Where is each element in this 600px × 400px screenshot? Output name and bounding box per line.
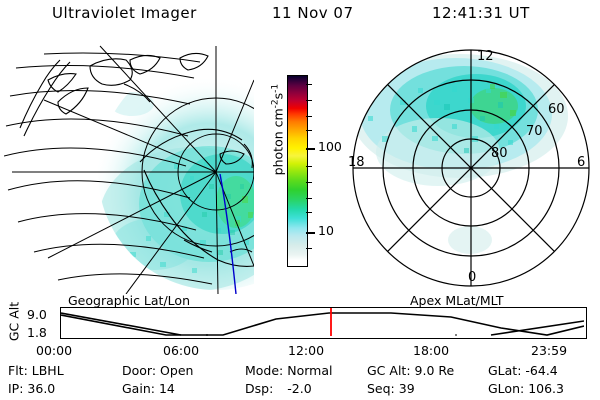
colorbar-tick (306, 100, 312, 101)
colorbar-tick (306, 84, 312, 85)
gc-alt-tick-high: 9.0 (27, 307, 47, 322)
status-gain: Gain: 14 (122, 381, 175, 396)
status-gcalt-label: GC Alt: (367, 363, 411, 378)
mlt-dial-grid (353, 50, 589, 286)
geographic-map-svg (4, 44, 254, 294)
colorbar-axis-label-sup2: -1 (270, 84, 280, 93)
status-mode-value: Normal (287, 363, 332, 378)
status-gain-value: 14 (159, 381, 175, 396)
header-bar: Ultraviolet Imager 11 Nov 07 12:41:31 UT (0, 4, 600, 30)
time-tick-2359: 23:59 (531, 343, 567, 358)
status-dsp-label: Dsp: (245, 381, 273, 396)
time-axis: 00:00 06:00 12:00 18:00 23:59 (0, 343, 600, 359)
colorbar-axis-label-sup: -2 (270, 99, 280, 108)
mlt-polar-panel: 12 6 0 18 60 70 80 (348, 44, 598, 296)
mlt-label-12: 12 (477, 49, 494, 64)
colorbar-tick (306, 248, 312, 249)
observation-time: 12:41:31 UT (432, 4, 530, 22)
status-ip: IP: 36.0 (8, 381, 55, 396)
gc-alt-axis-label-text: GC Alt (7, 300, 22, 344)
orbit-altitude-trace (61, 313, 584, 335)
status-panel: Flt: LBHL IP: 36.0 Door: Open Gain: 14 M… (0, 363, 600, 399)
time-tick-0600: 06:00 (163, 343, 199, 358)
mlat-label-60: 60 (548, 102, 565, 117)
colorbar-tick (306, 116, 312, 117)
status-gcalt-value: 9.0 Re (415, 363, 455, 378)
status-gcalt: GC Alt: 9.0 Re (367, 363, 454, 378)
colorbar-gradient (287, 75, 308, 267)
time-tick-1200: 12:00 (288, 343, 324, 358)
colorbar-legend: 100 10 photon cm-2s-1 (258, 60, 348, 300)
colorbar-label-100: 100 (318, 141, 342, 154)
status-seq: Seq: 39 (367, 381, 415, 396)
status-mode: Mode: Normal (245, 363, 333, 378)
orbit-altitude-trace-descending (61, 313, 181, 335)
colorbar-tick (306, 198, 312, 199)
status-door: Door: Open (122, 363, 193, 378)
uvi-image-window: Ultraviolet Imager 11 Nov 07 12:41:31 UT (0, 0, 600, 400)
colorbar-axis-label-main: photon cm (271, 108, 286, 175)
colorbar-major-tick (306, 232, 315, 234)
status-filter: Flt: LBHL (8, 363, 64, 378)
colorbar-major-tick (306, 148, 315, 150)
status-filter-value: LBHL (32, 363, 64, 378)
status-glat-label: GLat: (488, 363, 521, 378)
aurora-emission-geographic (91, 76, 254, 294)
status-door-value: Open (160, 363, 193, 378)
status-door-label: Door: (122, 363, 156, 378)
mlat-label-80: 80 (491, 146, 508, 161)
observation-date: 11 Nov 07 (272, 4, 354, 22)
mlt-label-0: 0 (468, 270, 476, 285)
orbit-altitude-plot[interactable] (60, 307, 587, 339)
status-glon-label: GLon: (488, 381, 524, 396)
time-tick-0000: 00:00 (36, 343, 72, 358)
status-glat: GLat: -64.4 (488, 363, 558, 378)
mlt-label-6: 6 (577, 155, 585, 170)
mlt-polar-svg: 12 6 0 18 60 70 80 (348, 44, 598, 296)
status-glon-value: 106.3 (528, 381, 564, 396)
page-title: Ultraviolet Imager (52, 4, 197, 22)
gc-alt-tick-low: 1.8 (27, 325, 47, 340)
colorbar-label-10: 10 (318, 225, 334, 238)
status-filter-label: Flt: (8, 363, 28, 378)
mlt-panel-caption: Apex MLat/MLT (410, 293, 504, 308)
colorbar-tick (306, 130, 312, 131)
status-dsp-value: -2.0 (277, 381, 311, 396)
mlat-label-70: 70 (526, 124, 543, 139)
status-seq-value: 39 (399, 381, 415, 396)
colorbar-axis-label-tail: s (271, 93, 286, 100)
status-gain-label: Gain: (122, 381, 155, 396)
mlt-label-18: 18 (348, 155, 365, 170)
status-glon: GLon: 106.3 (488, 381, 564, 396)
status-ip-value: 36.0 (27, 381, 55, 396)
colorbar-axis-label: photon cm-2s-1 (270, 74, 285, 186)
status-glat-value: -64.4 (525, 363, 557, 378)
status-dsp: Dsp: -2.0 (245, 381, 312, 396)
status-ip-label: IP: (8, 381, 23, 396)
status-seq-label: Seq: (367, 381, 395, 396)
time-tick-1800: 18:00 (413, 343, 449, 358)
colorbar-tick (306, 212, 312, 213)
status-mode-label: Mode: (245, 363, 283, 378)
colorbar-tick (306, 166, 312, 167)
colorbar-tick (306, 182, 312, 183)
geographic-panel-caption: Geographic Lat/Lon (68, 293, 190, 308)
geographic-map-panel (4, 44, 254, 294)
orbit-plot-svg (61, 308, 584, 336)
